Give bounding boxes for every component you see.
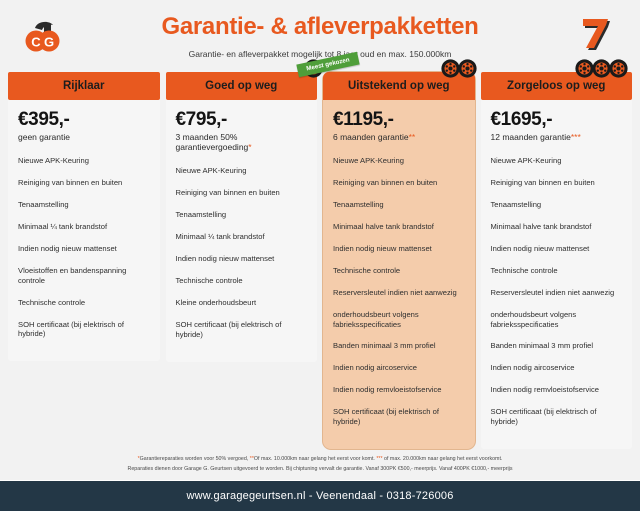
package-feature: Tenaamstelling (176, 210, 308, 219)
warranty-footnote-marker-2: * (248, 142, 251, 152)
package-price-2: €795,- (176, 110, 308, 130)
package-feature: Nieuwe APK-Keuring (176, 166, 308, 175)
header-title-block: Garantie- & afleverpakketten Garantie- e… (0, 14, 640, 60)
package-feature: Indien nodig aircoservice (491, 363, 623, 372)
package-feature: SOH certificaat (bij elektrisch of hybri… (176, 320, 308, 339)
package-warranty-3: 6 maanden garantie** (333, 132, 465, 142)
package-feature: Technische controle (18, 298, 150, 307)
package-feature: Nieuwe APK-Keuring (491, 156, 623, 165)
package-title-3[interactable]: Uitstekend op weg (323, 72, 475, 100)
package-warranty-2: 3 maanden 50% garantievergoeding* (176, 132, 308, 152)
package-feature: Nieuwe APK-Keuring (18, 156, 150, 165)
contact-footer: www.garagegeurtsen.nl - Veenendaal - 031… (0, 481, 640, 511)
footnote-text-2: Of max. 10.000km naar gelang het eerst v… (254, 456, 376, 462)
package-feature: Banden minimaal 3 mm profiel (333, 341, 465, 350)
page-subtitle: Garantie- en afleverpakket mogelijk tot … (0, 49, 640, 59)
package-card-1[interactable]: Rijklaar€395,-geen garantieNieuwe APK-Ke… (8, 72, 160, 361)
package-feature: Tenaamstelling (491, 200, 623, 209)
footnote-line-2: Reparaties dienen door Garage G. Geurtse… (40, 466, 600, 474)
footnotes: *Garantiereparaties worden voor 50% verg… (0, 449, 640, 481)
package-feature: Indien nodig nieuw mattenset (176, 254, 308, 263)
package-feature: Reserversleutel indien niet aanwezig (491, 288, 623, 297)
warranty-footnote-marker-3: ** (409, 132, 416, 142)
package-feature: Minimaal ¼ tank brandstof (176, 232, 308, 241)
package-feature: Minimaal halve tank brandstof (491, 222, 623, 231)
package-card-3[interactable]: Meest gekozenUitstekend op weg€1195,-6 m… (323, 72, 475, 449)
package-feature: Reiniging van binnen en buiten (333, 178, 465, 187)
package-feature: Indien nodig nieuw mattenset (491, 244, 623, 253)
package-feature: Tenaamstelling (333, 200, 465, 209)
package-feature: Nieuwe APK-Keuring (333, 156, 465, 165)
package-feature: Technische controle (333, 266, 465, 275)
package-title-2[interactable]: Goed op weg (166, 72, 318, 100)
package-feature: Technische controle (491, 266, 623, 275)
page-title: Garantie- & afleverpakketten (0, 14, 640, 40)
poster-root: C G Garantie- & afleverpakketten Garanti… (0, 0, 640, 480)
package-feature: Kleine onderhoudsbeurt (176, 298, 308, 307)
footer-contact-text: www.garagegeurtsen.nl - Veenendaal - 031… (186, 490, 453, 502)
package-feature: Indien nodig aircoservice (333, 363, 465, 372)
package-feature: Minimaal ¼ tank brandstof (18, 222, 150, 231)
seven-logo (576, 14, 618, 56)
package-body-2: €795,-3 maanden 50% garantievergoeding*N… (166, 100, 318, 356)
package-feature: Reiniging van binnen en buiten (18, 178, 150, 187)
package-body-3: €1195,-6 maanden garantie**Nieuwe APK-Ke… (323, 100, 475, 443)
package-feature: Technische controle (176, 276, 308, 285)
package-feature: Indien nodig nieuw mattenset (333, 244, 465, 253)
package-feature: Reserversleutel indien niet aanwezig (333, 288, 465, 297)
package-feature: onderhoudsbeurt volgens fabrieksspecific… (491, 310, 623, 329)
package-feature: Indien nodig nieuw mattenset (18, 244, 150, 253)
warranty-footnote-marker-4: *** (571, 132, 581, 142)
package-card-4[interactable]: Zorgeloos op weg€1695,-12 maanden garant… (481, 72, 633, 449)
package-feature: Indien nodig remvloeistofservice (333, 385, 465, 394)
footnote-text-1: Garantiereparaties worden voor 50% vergo… (140, 456, 250, 462)
package-feature: Banden minimaal 3 mm profiel (491, 341, 623, 350)
package-feature: onderhoudsbeurt volgens fabrieksspecific… (333, 310, 465, 329)
package-card-list: Rijklaar€395,-geen garantieNieuwe APK-Ke… (0, 72, 640, 449)
package-price-1: €395,- (18, 110, 150, 130)
package-warranty-4: 12 maanden garantie*** (491, 132, 623, 142)
package-feature: Reiniging van binnen en buiten (176, 188, 308, 197)
footnote-line-1: *Garantiereparaties worden voor 50% verg… (40, 456, 600, 464)
package-feature: Minimaal halve tank brandstof (333, 222, 465, 231)
package-feature: SOH certificaat (bij elektrisch of hybri… (18, 320, 150, 339)
package-feature: Reiniging van binnen en buiten (491, 178, 623, 187)
footnote-text-3: of max. 20.000km naar gelang het eerst v… (383, 456, 503, 462)
package-title-4[interactable]: Zorgeloos op weg (481, 72, 633, 100)
package-feature: SOH certificaat (bij elektrisch of hybri… (491, 407, 623, 426)
package-feature: Indien nodig remvloeistofservice (491, 385, 623, 394)
package-feature: Tenaamstelling (18, 200, 150, 209)
package-body-4: €1695,-12 maanden garantie***Nieuwe APK-… (481, 100, 633, 443)
package-body-1: €395,-geen garantieNieuwe APK-KeuringRei… (8, 100, 160, 355)
package-title-1[interactable]: Rijklaar (8, 72, 160, 100)
package-price-3: €1195,- (333, 110, 465, 130)
package-warranty-1: geen garantie (18, 132, 150, 142)
package-card-2[interactable]: Goed op weg€795,-3 maanden 50% garantiev… (166, 72, 318, 362)
package-price-4: €1695,- (491, 110, 623, 130)
package-feature: SOH certificaat (bij elektrisch of hybri… (333, 407, 465, 426)
package-feature: Vloeistoffen en bandenspanning controle (18, 266, 150, 285)
